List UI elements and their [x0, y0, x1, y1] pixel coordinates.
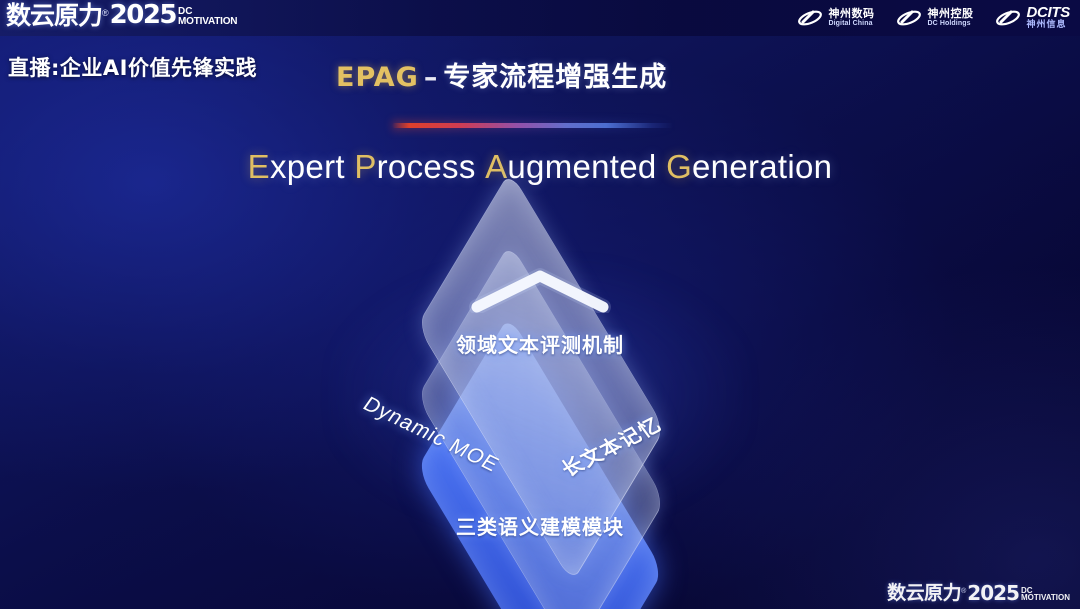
presentation-slide: 数云原力 ® 2025 DC MOTIVATION 神州数码 Digital C…	[0, 0, 1080, 609]
gradient-divider	[392, 123, 674, 128]
partner-name-cn: 神州数码	[828, 8, 874, 20]
subtitle-english: Expert Process Augmented Generation	[0, 148, 1080, 186]
partner-name-en: Digital China	[828, 20, 874, 27]
subtitle-word4-rest: eneration	[692, 148, 832, 185]
brand-dc-line2: MOTIVATION	[178, 17, 237, 27]
partner-name-cn: 神州信息	[1026, 21, 1070, 30]
subtitle-word1-cap: E	[248, 148, 270, 185]
watermark-name-cn: 数云原力	[887, 584, 961, 603]
live-stream-label: 直播:企业AI价值先锋实践	[8, 52, 257, 82]
subtitle-word1-rest: xpert	[270, 148, 345, 185]
title-acronym: EPAG	[336, 62, 419, 93]
subtitle-word4-cap: G	[666, 148, 692, 185]
brand-dc-motivation: DC MOTIVATION	[178, 7, 237, 26]
partner-name-cn: 神州控股	[927, 8, 973, 20]
layer-label-bottom: 三类语义建模模块	[295, 511, 785, 540]
partner-logo-text: DCITS 神州信息	[1026, 5, 1070, 30]
watermark-dc-line2: MOTIVATION	[1021, 594, 1070, 602]
swirl-logo-icon	[797, 7, 823, 29]
partner-logo-digital-china: 神州数码 Digital China	[797, 7, 874, 29]
partner-logo-text: 神州控股 DC Holdings	[927, 8, 973, 27]
partner-name-en: DCITS	[1026, 5, 1070, 21]
brand-lockup: 数云原力 ® 2025 DC MOTIVATION	[6, 2, 237, 28]
subtitle-word2-rest: rocess	[377, 148, 476, 185]
watermark-year: 2025	[967, 583, 1019, 603]
partner-logo-dc-holdings: 神州控股 DC Holdings	[896, 7, 973, 29]
swirl-logo-icon	[995, 7, 1021, 29]
partner-logo-group: 神州数码 Digital China 神州控股 DC Holdings	[797, 5, 1070, 30]
page-title: EPAG–专家流程增强生成	[336, 55, 667, 94]
chevron-up-icon	[469, 267, 611, 313]
subtitle-word3-rest: ugmented	[507, 148, 656, 185]
partner-name-en: DC Holdings	[927, 20, 973, 27]
title-separator: –	[424, 62, 439, 93]
brand-year: 2025	[110, 2, 176, 28]
title-chinese: 专家流程增强生成	[443, 62, 667, 93]
partner-logo-text: 神州数码 Digital China	[828, 8, 874, 27]
watermark-dc-motivation: DC MOTIVATION	[1021, 587, 1070, 602]
partner-logo-dcits: DCITS 神州信息	[995, 5, 1070, 30]
layered-architecture-diagram: 领域文本评测机制 Dynamic MOE 长文本记忆 三类语义建模模块	[295, 225, 785, 565]
layer-label-top: 领域文本评测机制	[295, 329, 785, 358]
brand-name-cn: 数云原力	[6, 3, 102, 28]
footer-watermark: 数云原力 ® 2025 DC MOTIVATION	[887, 583, 1070, 603]
subtitle-word2-cap: P	[354, 148, 376, 185]
swirl-logo-icon	[896, 7, 922, 29]
brand-registered-mark: ®	[102, 9, 109, 18]
watermark-registered-mark: ®	[961, 588, 966, 595]
